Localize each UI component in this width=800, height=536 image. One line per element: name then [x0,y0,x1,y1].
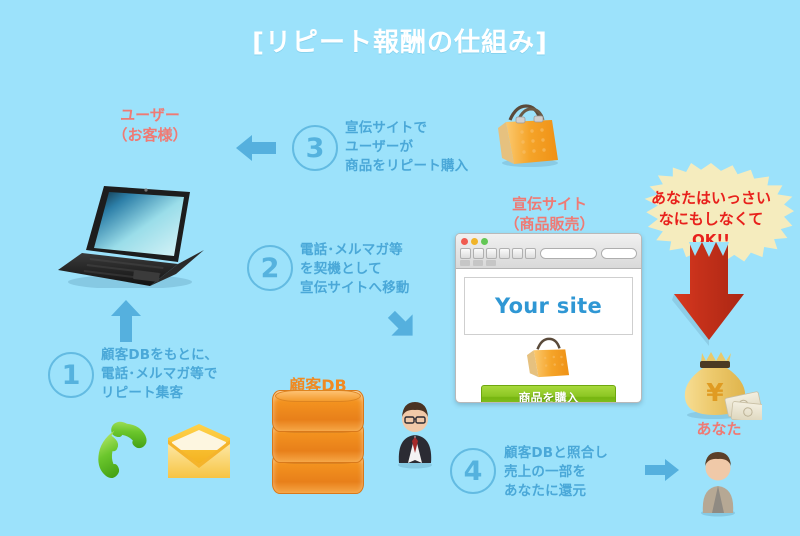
step-4-text: 顧客DBと照合し 売上の一部を あなたに還元 [504,444,644,501]
page-title: [リピート報酬の仕組み] [0,22,800,59]
arrow-right-icon [645,458,679,482]
step-2-text: 電話･メルマガ等 を契機として 宣伝サイトへ移動 [300,241,440,298]
browser-toolbar[interactable] [460,247,637,259]
window-controls[interactable] [461,238,488,245]
browser-chrome [456,234,641,269]
arrow-up-icon [111,300,141,342]
svg-text:¥: ¥ [706,378,724,407]
step-4-number: 4 [450,448,496,494]
browser-window[interactable]: Your site [455,233,642,403]
site-header-box: Your site [464,277,633,335]
buy-product-button[interactable]: 商品を購入 [481,385,616,403]
browser-content: Your site [456,269,641,403]
laptop-icon [38,178,206,288]
site-title: Your site [495,294,602,318]
step-3-text: 宣伝サイトで ユーザーが 商品をリピート購入 [345,119,475,176]
step-1-text: 顧客DBをもとに、 電話･メルマガ等で リピート集客 [101,346,241,403]
step-3-number: 3 [292,125,338,171]
money-bag-icon: ¥ [676,345,762,420]
arrow-left-icon [236,133,276,163]
forward-button[interactable] [473,248,484,259]
label-promo-site: 宣伝サイト （商品販売） [487,194,612,234]
arrow-down-right-icon [385,308,419,342]
bookmarks-bar[interactable] [460,259,496,267]
shopping-bag-icon [492,100,564,168]
back-button[interactable] [460,248,471,259]
person-avatar [690,443,746,517]
product-bag-icon [464,335,633,379]
database-icon [272,388,364,498]
step-2-number: 2 [247,245,293,291]
envelope-icon [164,424,234,480]
home-button[interactable] [486,248,497,259]
phone-icon [92,418,158,484]
reload-button[interactable] [499,248,510,259]
step-1-number: 1 [48,352,94,398]
businessman-avatar [387,393,443,469]
address-bar[interactable] [540,248,597,259]
add-button[interactable] [525,248,536,259]
label-you: あなた [676,419,762,439]
infographic-canvas: [リピート報酬の仕組み] ユーザー （お客様） [0,0,800,536]
bookmarks-button[interactable] [512,248,523,259]
label-user: ユーザー （お客様） [90,105,210,145]
red-down-arrow-icon [672,242,746,346]
search-box[interactable] [601,248,637,259]
